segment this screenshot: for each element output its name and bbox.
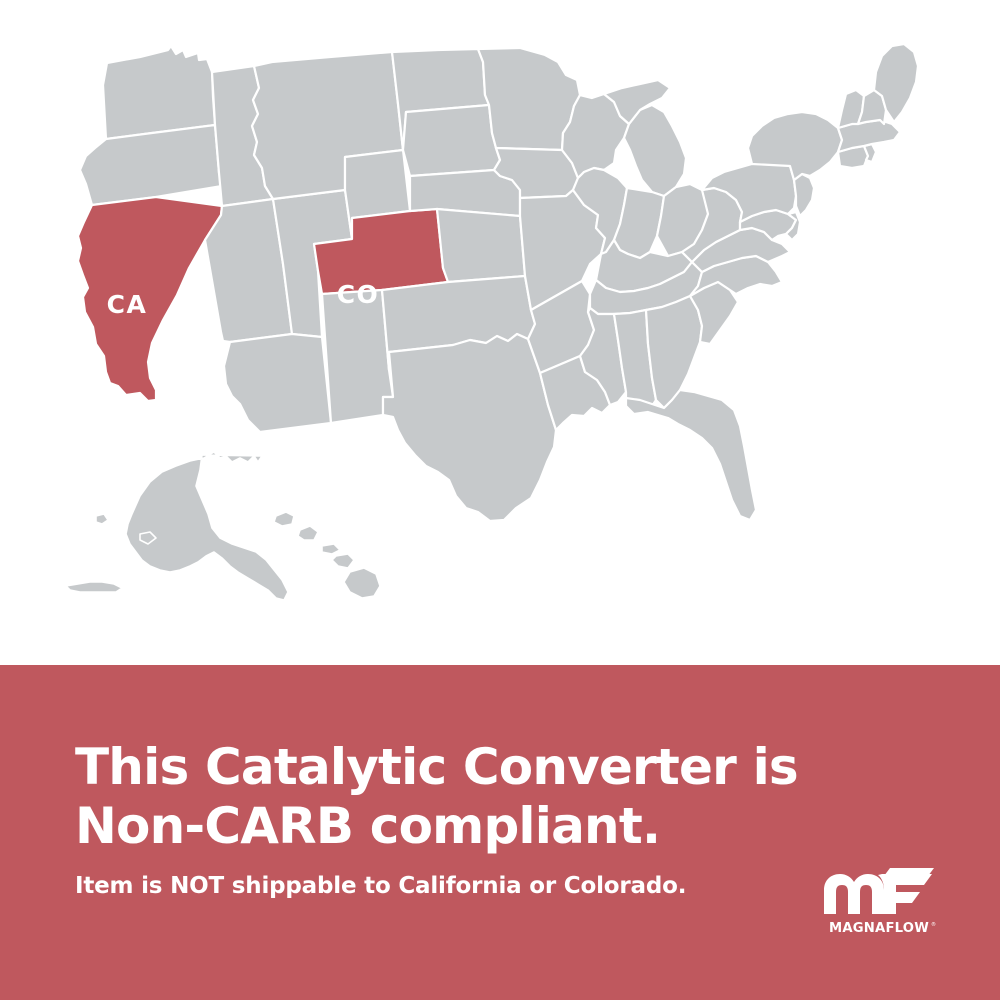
mf-monogram-icon <box>824 868 934 914</box>
state-label-co: CO <box>337 280 380 309</box>
headline-line-1: This Catalytic Converter is <box>75 738 855 797</box>
state-kansas <box>437 209 525 282</box>
headline-line-2: Non-CARB compliant. <box>75 797 855 856</box>
inset-hawaii-molokai <box>322 544 340 554</box>
inset-alaska-island-1 <box>96 514 108 524</box>
state-label-ca: CA <box>107 290 148 319</box>
state-new-jersey <box>794 174 814 216</box>
registered-trademark-icon: ® <box>931 921 936 928</box>
state-washington <box>103 46 215 139</box>
us-map-svg: CA CO <box>0 0 1000 665</box>
inset-hawaii-oahu <box>298 526 318 540</box>
inset-alaska-aleutians <box>66 582 122 592</box>
compliance-banner: This Catalytic Converter is Non-CARB com… <box>0 665 1000 1000</box>
inset-hawaii-bigisland <box>344 568 380 598</box>
state-florida <box>626 390 756 520</box>
state-south-dakota <box>403 105 500 176</box>
inset-alaska <box>126 452 288 600</box>
state-california <box>78 197 222 401</box>
state-arizona <box>224 334 331 432</box>
state-oregon <box>80 125 222 205</box>
magnaflow-wordmark: MAGNAFLOW <box>829 921 929 936</box>
inset-hawaii-kauai <box>274 512 294 526</box>
state-rhode-island <box>864 144 876 162</box>
magnaflow-logo: MAGNAFLOW ® <box>820 866 938 940</box>
non-carb-compliance-notice: CA CO This Catalytic Converter is Non-CA… <box>0 0 1000 1000</box>
banner-text-block: This Catalytic Converter is Non-CARB com… <box>75 738 855 899</box>
inset-hawaii-maui <box>332 554 354 568</box>
magnaflow-logo-svg: MAGNAFLOW ® <box>820 866 938 940</box>
us-map-container: CA CO <box>0 0 1000 665</box>
shipping-restriction-note: Item is NOT shippable to California or C… <box>75 873 855 899</box>
state-texas <box>383 334 556 521</box>
